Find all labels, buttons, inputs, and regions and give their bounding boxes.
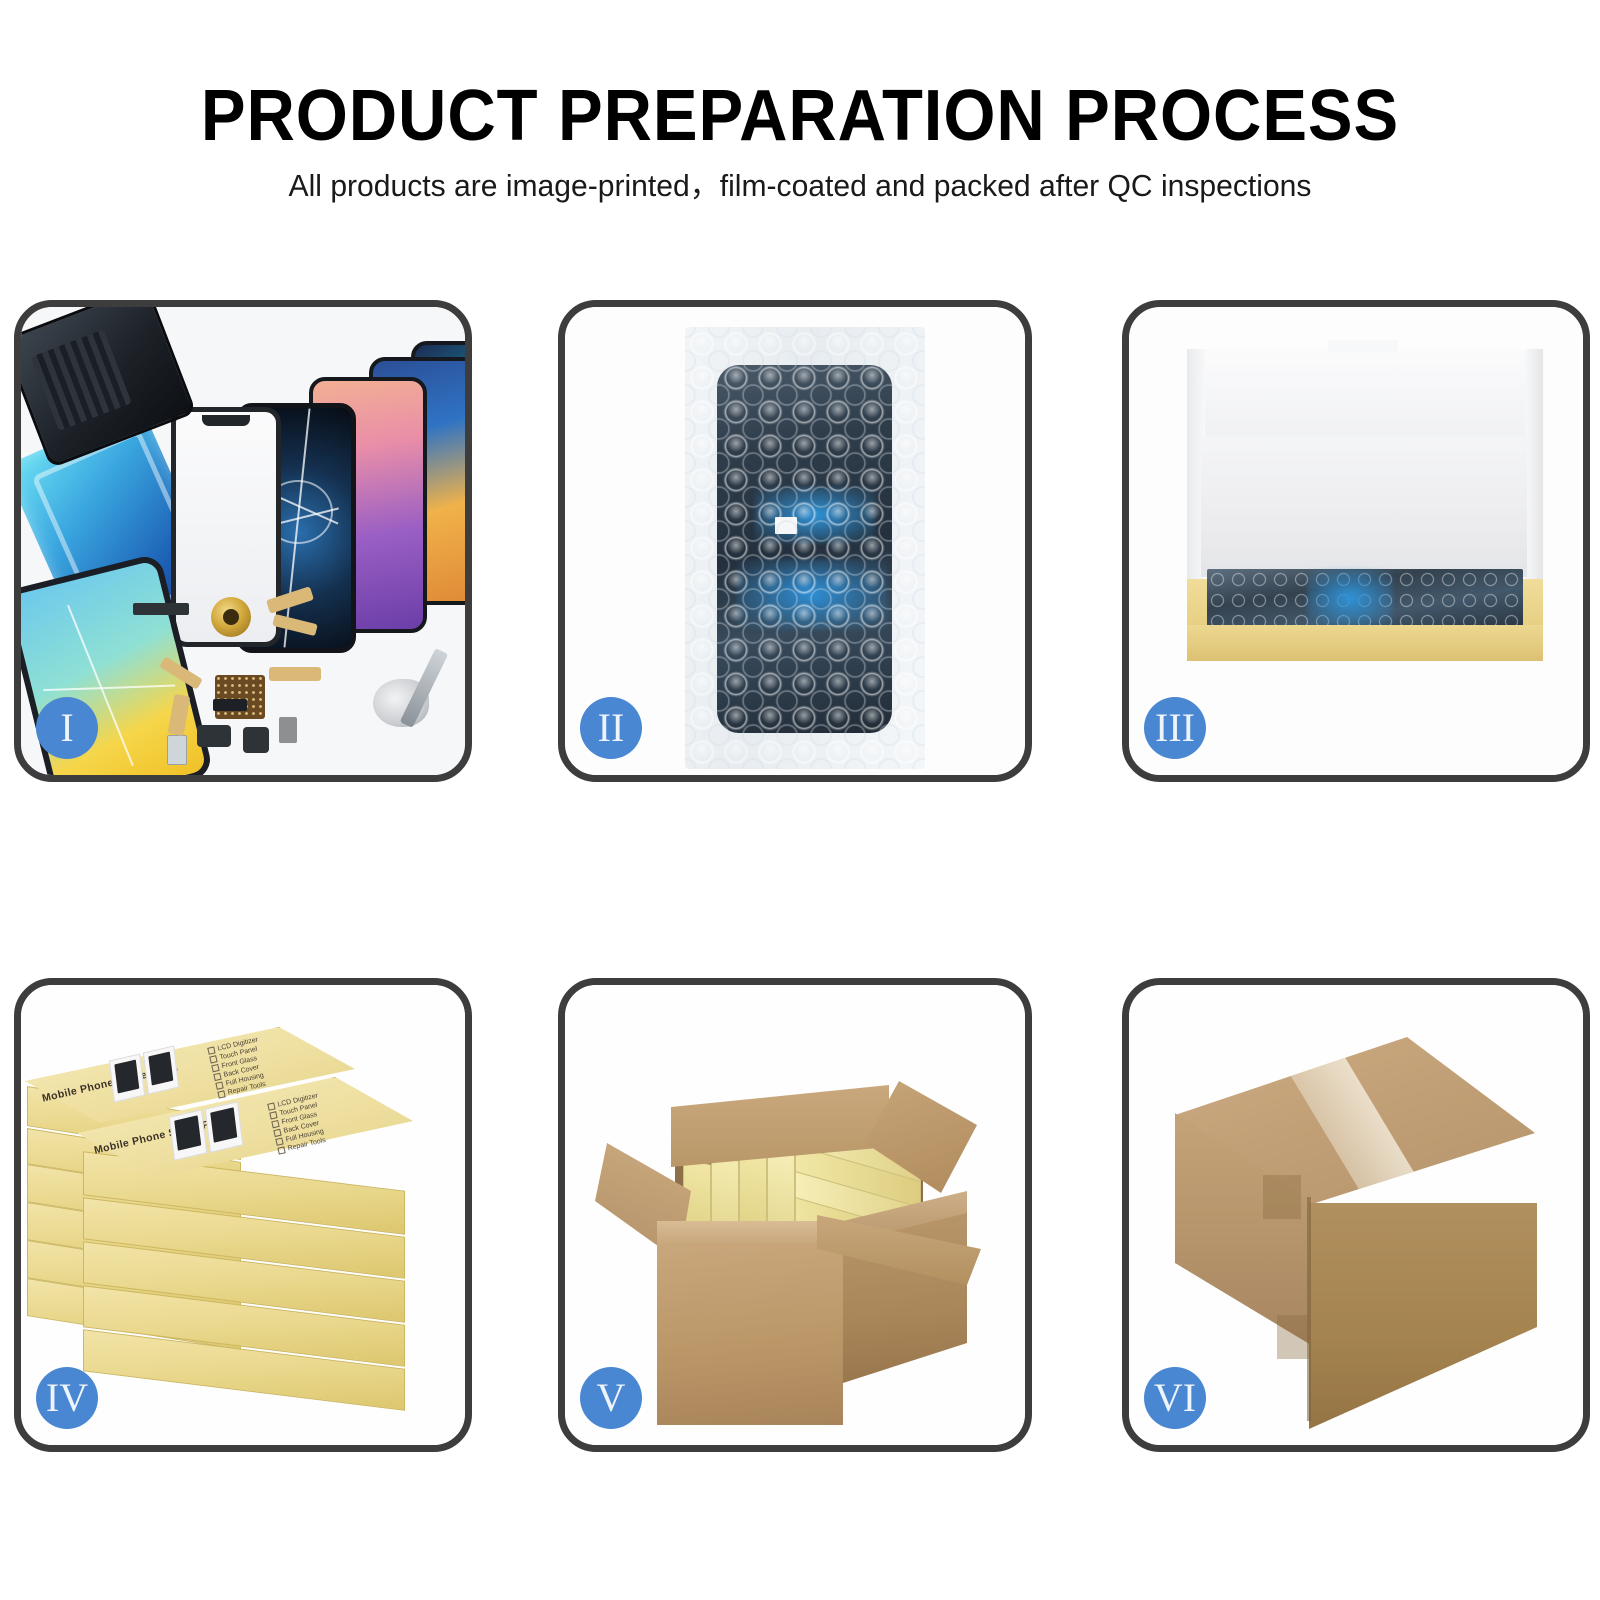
- step-badge-1: I: [36, 697, 98, 759]
- process-step-panel-3[interactable]: III: [1122, 300, 1590, 782]
- bubble-wrap-photo: [565, 307, 1025, 775]
- carton-front-face: [657, 1243, 843, 1425]
- box-interior-graphic: [1201, 437, 1527, 577]
- step-badge-6: VI: [1144, 1367, 1206, 1429]
- step-badge-2: II: [580, 697, 642, 759]
- process-step-panel-2[interactable]: II: [558, 300, 1032, 782]
- step-badge-5: V: [580, 1367, 642, 1429]
- process-step-panel-6[interactable]: VI: [1122, 978, 1590, 1452]
- bubble-pattern-offset-graphic: [685, 327, 925, 769]
- wireless-charging-coil-graphic: [211, 597, 251, 637]
- inner-box-photo: [1129, 307, 1583, 775]
- process-step-panel-5[interactable]: V: [558, 978, 1032, 1452]
- step-badge-3: III: [1144, 697, 1206, 759]
- step-badge-4: IV: [36, 1367, 98, 1429]
- carton-loading-photo: [565, 985, 1025, 1445]
- process-step-panel-1[interactable]: I: [14, 300, 472, 782]
- box-lid-graphic: [1187, 349, 1539, 441]
- ic-chip-graphic: [215, 675, 265, 719]
- process-step-grid: I II III: [0, 0, 1600, 1600]
- process-step-panel-4[interactable]: Mobile Phone Spare Parts LCD Digitizer T…: [14, 978, 472, 1452]
